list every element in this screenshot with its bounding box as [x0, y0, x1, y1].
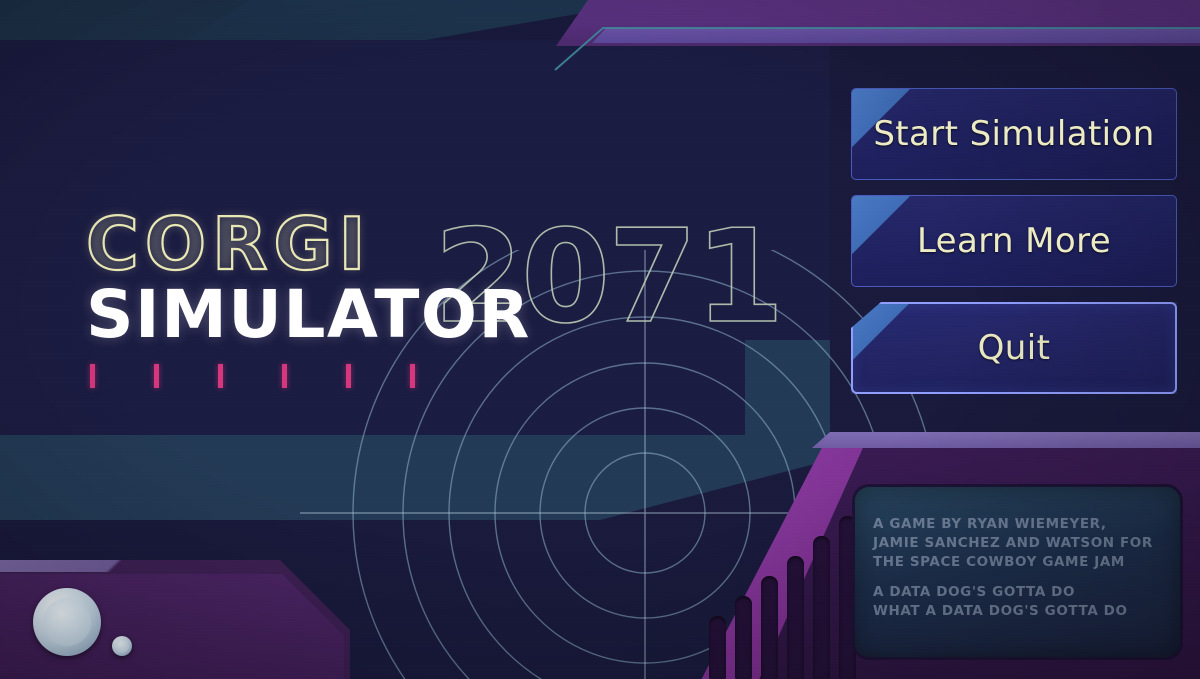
title-simulator: SIMULATOR: [86, 282, 531, 348]
title-tick-marks: [90, 364, 430, 390]
credits-line: A GAME BY RYAN WIEMEYER,: [873, 515, 1180, 534]
start-simulation-button[interactable]: Start Simulation: [851, 88, 1177, 180]
console-vent-slot: [761, 576, 778, 679]
tick-mark: [90, 364, 95, 388]
console-vent-slot: [709, 616, 726, 679]
tick-mark: [282, 364, 287, 388]
button-label: Quit: [978, 328, 1051, 368]
teal-accent-line: [555, 20, 1200, 70]
main-menu: Start Simulation Learn More Quit: [851, 88, 1177, 409]
credits-line: THE SPACE COWBOY GAME JAM: [873, 553, 1180, 572]
button-label: Learn More: [917, 221, 1111, 261]
credits-line: A DATA DOG'S GOTTA DO: [873, 583, 1180, 602]
console-vent-slot: [735, 596, 752, 679]
knob-sphere-large[interactable]: [33, 588, 101, 656]
quit-button[interactable]: Quit: [851, 302, 1177, 394]
title-corgi: CORGI: [86, 208, 371, 280]
console-vent-slot: [787, 556, 804, 679]
credits-spacer: [873, 572, 1180, 583]
credits-line: JAMIE SANCHEZ AND WATSON FOR: [873, 534, 1180, 553]
game-title-logo: 2071 CORGI SIMULATOR: [86, 208, 786, 393]
button-corner-accent: [852, 303, 914, 365]
game-main-menu-screen: 2071 CORGI SIMULATOR A GAME BY RYAN WIEM…: [0, 0, 1200, 679]
button-corner-accent: [851, 195, 913, 257]
bottom-right-console-topband: [812, 432, 1200, 448]
console-vent-slot: [813, 536, 830, 679]
knob-sphere-small[interactable]: [112, 636, 132, 656]
console-vent-slot: [839, 516, 856, 679]
button-label: Start Simulation: [873, 114, 1154, 154]
tick-mark: [154, 364, 159, 388]
tick-mark: [218, 364, 223, 388]
credits-screen: A GAME BY RYAN WIEMEYER, JAMIE SANCHEZ A…: [855, 487, 1180, 657]
credits-line: WHAT A DATA DOG'S GOTTA DO: [873, 602, 1180, 621]
tick-mark: [346, 364, 351, 388]
learn-more-button[interactable]: Learn More: [851, 195, 1177, 287]
tick-mark: [410, 364, 415, 388]
